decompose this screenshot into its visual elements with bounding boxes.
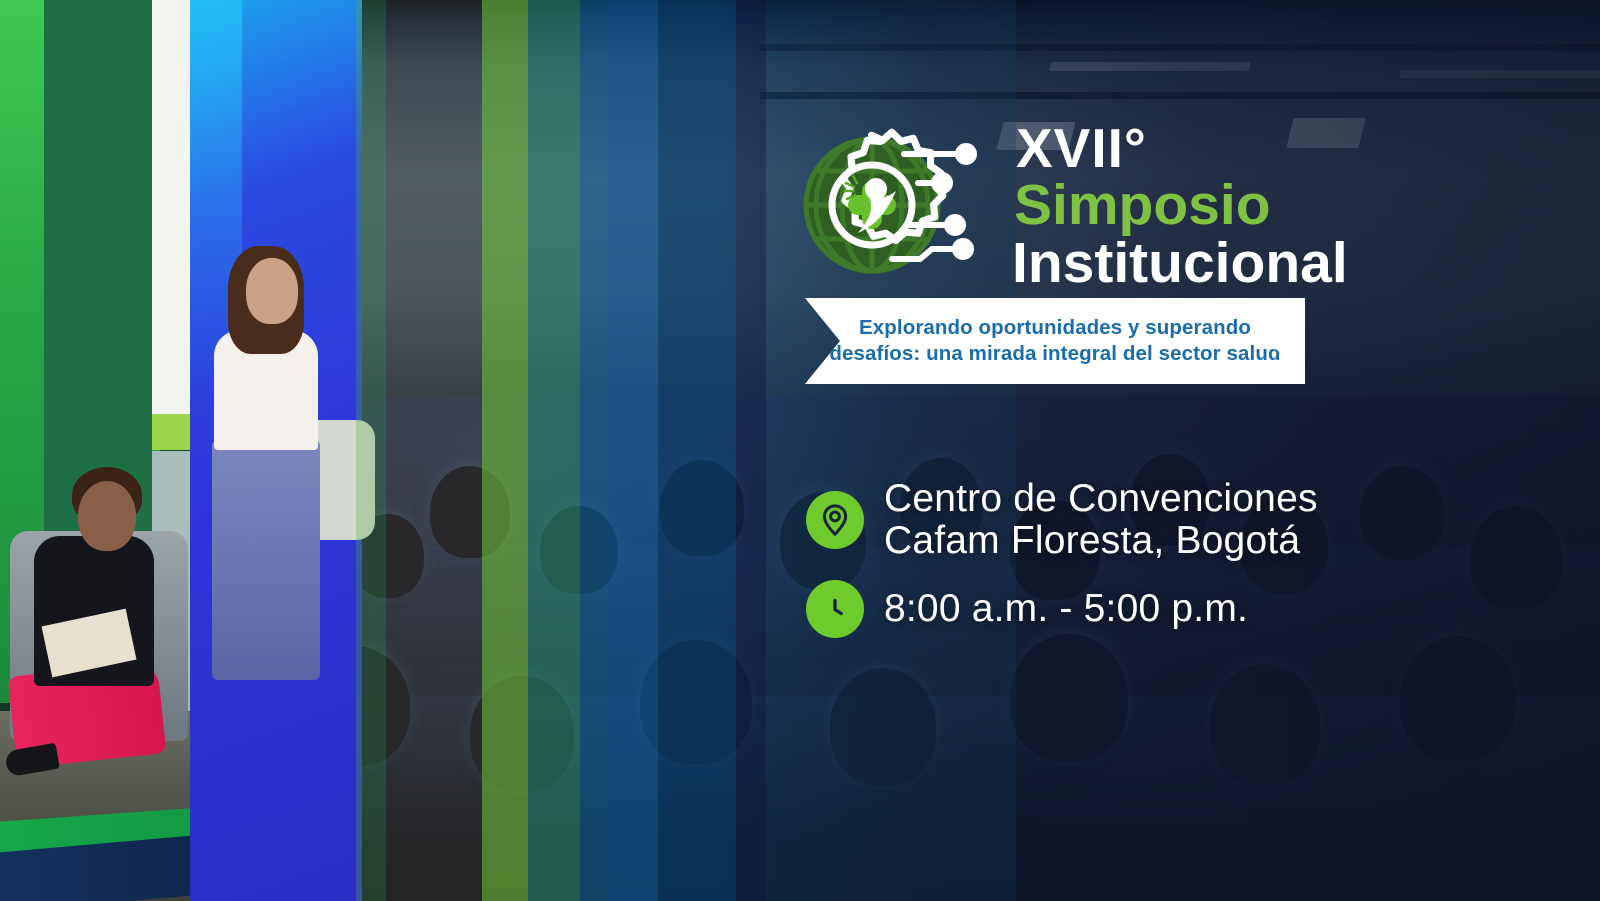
tagline-line-2: desafíos: una mirada integral del sector… — [829, 342, 1280, 366]
venue-text: Centro de Convenciones Cafam Floresta, B… — [884, 478, 1318, 562]
event-details: Centro de Convenciones Cafam Floresta, B… — [806, 478, 1318, 638]
venue-line-1: Centro de Convenciones — [884, 477, 1318, 520]
schedule-text: 8:00 a.m. - 5:00 p.m. — [884, 588, 1248, 630]
globe-gear-health-logo — [800, 121, 1000, 289]
venue-line-2: Cafam Floresta, Bogotá — [884, 520, 1318, 562]
banner-content: XVII° Simposio Institucional Explorando … — [0, 0, 1600, 901]
venue-row: Centro de Convenciones Cafam Floresta, B… — [806, 478, 1318, 562]
schedule-row: 8:00 a.m. - 5:00 p.m. — [806, 580, 1318, 638]
tagline-ribbon: Explorando oportunidades y superando des… — [805, 298, 1305, 384]
event-banner: XVII° Simposio Institucional Explorando … — [0, 0, 1600, 901]
title-block: XVII° Simposio Institucional — [1010, 118, 1348, 292]
location-pin-icon — [806, 491, 864, 549]
event-name-green: Simposio — [1014, 176, 1348, 234]
tagline-line-1: Explorando oportunidades y superando — [859, 316, 1251, 340]
logo-and-title: XVII° Simposio Institucional — [800, 118, 1348, 292]
event-name-white: Institucional — [1012, 234, 1348, 292]
vertical-text-group: TE ESPERAMOS ESTE 27 Y 28 DE FEBRERO EVE… — [1370, 0, 1600, 901]
clock-icon — [806, 580, 864, 638]
event-edition: XVII° — [1016, 122, 1348, 176]
